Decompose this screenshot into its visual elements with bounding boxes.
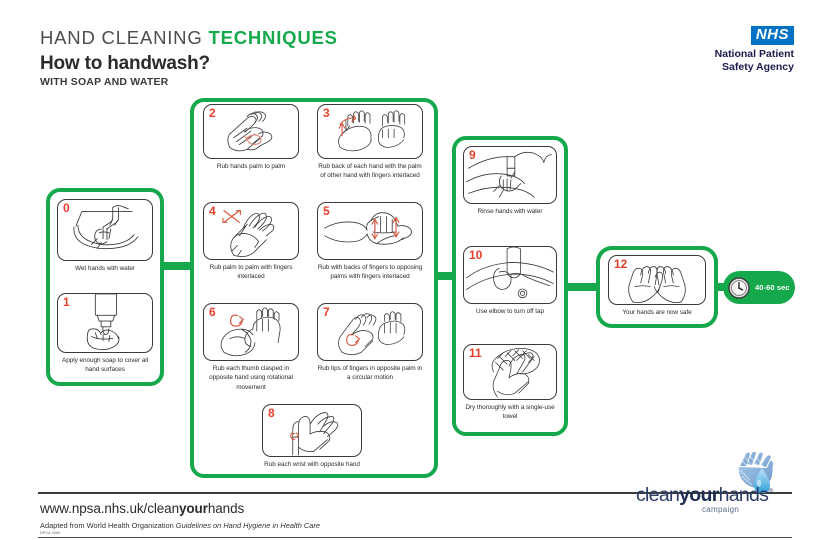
step-4-illustration: 4 <box>203 202 299 260</box>
clock-icon <box>727 276 751 300</box>
step-8-caption: Rub each wrist with opposite hand <box>262 460 362 469</box>
step-3-illustration: 3 <box>317 104 423 159</box>
step-card-6: 6 <box>203 303 299 392</box>
step-card-3: 3 <box>317 104 423 181</box>
nhs-logo-line1: National Patient <box>715 48 794 61</box>
step-0-illustration: 0 <box>57 199 153 261</box>
step-5-caption: Rub with backs of fingers to opposing pa… <box>317 263 423 282</box>
step-4-number: 4 <box>209 204 216 219</box>
step-8-illustration: 8 <box>262 404 362 457</box>
poster-canvas: HAND CLEANING TECHNIQUES How to handwash… <box>0 0 830 540</box>
cleanyourhands-wordmark: cleanyourhands® <box>636 486 773 506</box>
duration-label: 40-60 sec <box>755 283 790 292</box>
step-10-number: 10 <box>469 248 482 263</box>
cyh-word-your: your <box>679 484 718 506</box>
step-7-caption: Rub tips of fingers in opposite palm in … <box>317 364 423 383</box>
step-11-number: 11 <box>469 346 482 361</box>
nhs-mark: NHS <box>751 26 794 45</box>
footer-divider-bottom <box>38 537 792 538</box>
cyh-word-hands: hands <box>719 484 769 506</box>
step-3-number: 3 <box>323 106 330 121</box>
step-card-7: 7 <box>317 303 423 383</box>
step-1-caption: Apply enough soap to cover all hand surf… <box>57 356 153 375</box>
step-card-5: 5 <box>317 202 423 282</box>
step-card-4: 4 Rub pal <box>203 202 299 282</box>
connector-rinse-to-done <box>566 283 598 291</box>
footer-attribution-italic: Guidelines on Hand Hygiene in Health Car… <box>176 521 320 530</box>
step-9-illustration: 9 <box>463 146 557 204</box>
step-card-1: 1 Apply enough soap to cover all hand su… <box>57 293 153 375</box>
connector-wash-to-rinse <box>437 272 454 280</box>
step-3-caption: Rub back of each hand with the palm of o… <box>317 162 423 181</box>
cleanyourhands-tagline: campaign <box>702 505 739 514</box>
step-9-number: 9 <box>469 148 476 163</box>
footer-attribution-pre: Adapted from World Health Organization <box>40 521 176 530</box>
step-2-illustration: 2 <box>203 104 299 159</box>
step-10-caption: Use elbow to turn off tap <box>463 307 557 316</box>
soap-dispenser-icon <box>58 294 152 352</box>
step-6-illustration: 6 <box>203 303 299 361</box>
step-12-illustration: 12 <box>608 255 706 305</box>
step-0-number: 0 <box>63 201 70 216</box>
step-4-caption: Rub palm to palm with fingers interlaced <box>203 263 299 282</box>
step-7-number: 7 <box>323 305 330 320</box>
step-card-12: 12 Your hands are now safe <box>608 255 706 317</box>
step-card-11: 11 Dry thoroughly with a single-use towe… <box>463 344 557 422</box>
step-11-illustration: 11 <box>463 344 557 400</box>
step-1-number: 1 <box>63 295 70 310</box>
step-9-caption: Rinse hands with water <box>463 207 557 216</box>
footer-reference-code: NPSA 0560 <box>40 531 60 535</box>
nhs-logo: NHS National Patient Safety Agency <box>715 26 794 73</box>
footer-url[interactable]: www.npsa.nhs.uk/cleanyourhands <box>40 501 244 516</box>
step-6-number: 6 <box>209 305 216 320</box>
page-subtitle-secondary: WITH SOAP AND WATER <box>40 76 168 88</box>
step-11-caption: Dry thoroughly with a single-use towel <box>463 403 557 422</box>
footer-url-bold: your <box>179 501 208 516</box>
step-card-2: 2 Rub hands palm to <box>203 104 299 171</box>
thumb-rotation-icon <box>204 304 298 360</box>
page-subtitle: How to handwash? <box>40 53 210 75</box>
wrist-rub-icon <box>263 405 361 456</box>
step-card-9: 9 Rinse hands with water <box>463 146 557 216</box>
step-5-illustration: 5 <box>317 202 423 260</box>
nhs-logo-line2: Safety Agency <box>715 61 794 74</box>
step-12-number: 12 <box>614 257 627 272</box>
page-title: HAND CLEANING TECHNIQUES <box>40 27 338 49</box>
wet-hands-tap-icon <box>58 200 152 260</box>
rinse-hands-icon <box>464 147 556 203</box>
step-2-number: 2 <box>209 106 216 121</box>
page-title-main: HAND CLEANING <box>40 27 208 48</box>
footer-url-post: hands <box>208 501 244 516</box>
step-card-0: 0 Wet hands with water <box>57 199 153 273</box>
footer-attribution: Adapted from World Health Organization G… <box>40 521 320 530</box>
step-card-10: 10 Use elbow to turn off tap <box>463 246 557 316</box>
back-of-hand-interlace-icon <box>318 105 422 158</box>
step-card-8: 8 Rub each wrist with opposite <box>262 404 362 469</box>
step-2-caption: Rub hands palm to palm <box>203 162 299 171</box>
step-8-number: 8 <box>268 406 275 421</box>
cyh-registered-mark: ® <box>768 489 772 496</box>
step-7-illustration: 7 <box>317 303 423 361</box>
cleanyourhands-logo: cleanyourhands® campaign <box>636 458 796 516</box>
cyh-word-clean: clean <box>636 484 679 506</box>
step-5-number: 5 <box>323 204 330 219</box>
backs-of-fingers-icon <box>318 203 422 259</box>
palm-to-palm-icon <box>204 105 298 158</box>
page-title-accent: TECHNIQUES <box>208 27 337 48</box>
step-0-caption: Wet hands with water <box>57 264 153 273</box>
step-12-caption: Your hands are now safe <box>608 308 706 317</box>
step-1-illustration: 1 <box>57 293 153 353</box>
duration-badge: 40-60 sec <box>723 271 795 304</box>
footer-url-pre: www.npsa.nhs.uk/clean <box>40 501 179 516</box>
fingertips-circular-icon <box>318 304 422 360</box>
step-10-illustration: 10 <box>463 246 557 304</box>
palm-interlace-icon <box>204 203 298 259</box>
connector-prep-to-wash <box>163 262 192 270</box>
step-6-caption: Rub each thumb clasped in opposite hand … <box>203 364 299 392</box>
